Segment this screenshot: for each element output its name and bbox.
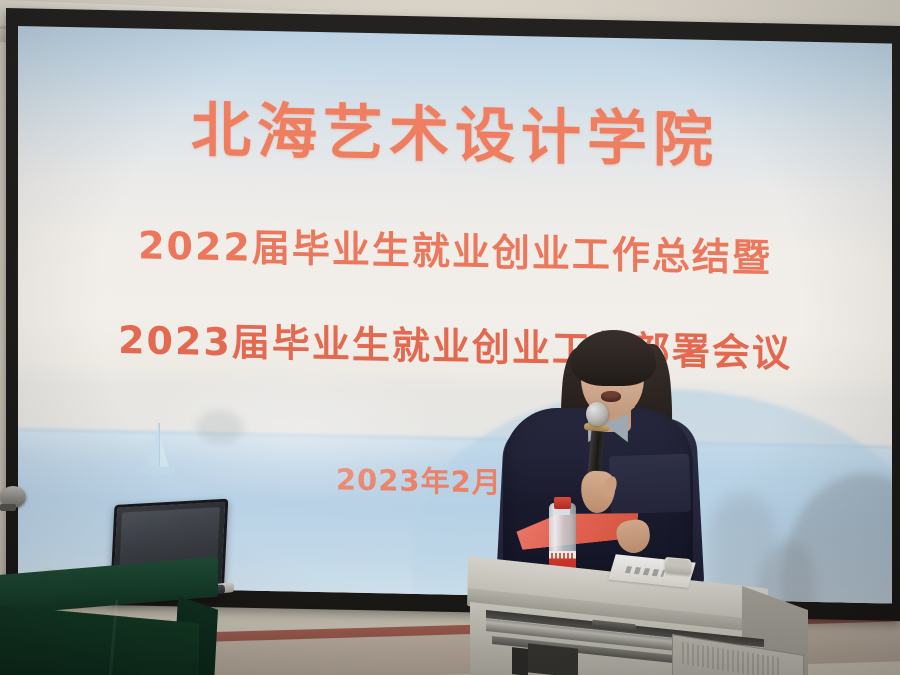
handheld-microphone-icon [586, 402, 608, 426]
water-bottle-cap [554, 497, 571, 509]
photo-scene: 北海艺术设计学院 2022届毕业生就业创业工作总结暨 2023届毕业生就业创业工… [0, 0, 900, 675]
speaker-mouth [601, 391, 621, 402]
slide-heading-line-1: 2022届毕业生就业创业工作总结暨 [18, 212, 892, 285]
screen-smudge [196, 410, 244, 445]
edge-microphone-stem [0, 504, 16, 511]
podium-inner-shadow [528, 643, 578, 675]
slide-heading-line-2: 2023届毕业生就业创业工作部署会议 [18, 307, 892, 380]
slide-institution-title: 北海艺术设计学院 [18, 78, 892, 183]
speaker-jacket-panel [609, 454, 691, 515]
water-bottle-label-text [551, 553, 574, 561]
podium-leg [512, 647, 528, 675]
